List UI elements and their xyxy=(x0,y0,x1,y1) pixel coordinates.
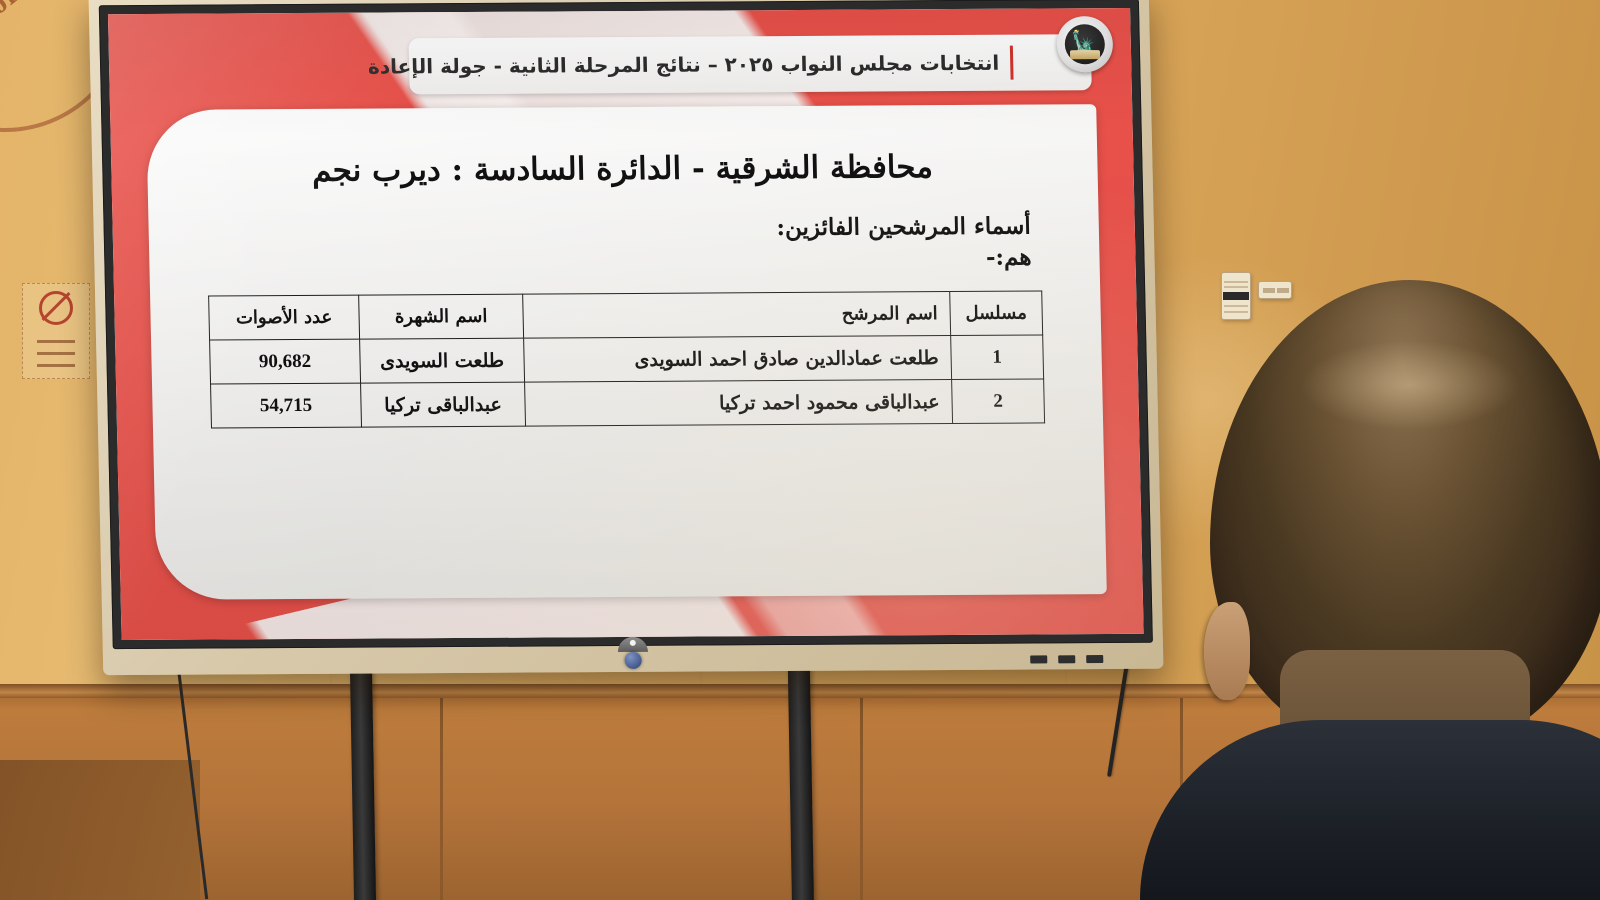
winners-subtitle-line2: هم:- xyxy=(203,242,1032,278)
cell-name: عبدالباقى محمود احمد تركيا xyxy=(525,380,953,427)
panel-home-button-icon[interactable] xyxy=(624,652,641,669)
results-table: مسلسل اسم المرشح اسم الشهرة عدد الأصوات … xyxy=(208,291,1045,429)
page-title: محافظة الشرقية - الدائرة السادسة : ديرب … xyxy=(201,144,1044,193)
cell-votes: 90,682 xyxy=(210,339,361,384)
cell-seq: 1 xyxy=(951,335,1044,380)
cell-name: طلعت عمادالدين صادق احمد السويدى xyxy=(524,336,952,383)
emblem-inner-disc: 🗽 xyxy=(1064,24,1105,64)
table-row: 2 عبدالباقى محمود احمد تركيا عبدالباقى ت… xyxy=(211,379,1045,428)
sign-text-line xyxy=(37,364,75,367)
wainscot-seam xyxy=(860,698,863,900)
table-header-row: مسلسل اسم المرشح اسم الشهرة عدد الأصوات xyxy=(209,291,1043,340)
viewer-head-silhouette-icon xyxy=(1170,160,1600,900)
room-scene: thority xyxy=(0,0,1600,900)
winners-subtitle: أسماء المرشحين الفائزين: هم:- xyxy=(202,210,1045,277)
header-accent-rule xyxy=(1010,46,1014,80)
column-header-name: اسم المرشح xyxy=(523,292,951,339)
cell-alias: طلعت السويدى xyxy=(360,338,525,383)
column-header-seq: مسلسل xyxy=(950,291,1043,336)
display-screen[interactable]: انتخابات مجلس النواب ٢٠٢٥ – نتائج المرحل… xyxy=(108,8,1144,640)
panel-speaker-slots-icon xyxy=(1030,655,1103,663)
results-table-body: 1 طلعت عمادالدين صادق احمد السويدى طلعت … xyxy=(210,335,1045,428)
table-row: 1 طلعت عمادالدين صادق احمد السويدى طلعت … xyxy=(210,335,1044,384)
sign-text-line xyxy=(37,352,75,355)
viewer-ear xyxy=(1204,602,1250,700)
eagle-glyph: 🗽 xyxy=(1071,33,1099,55)
interactive-display[interactable]: انتخابات مجلس النواب ٢٠٢٥ – نتائج المرحل… xyxy=(89,0,1164,675)
display-stand-leg-left xyxy=(350,660,376,900)
slide-content-card: محافظة الشرقية - الدائرة السادسة : ديرب … xyxy=(146,104,1107,600)
cell-alias: عبدالباقى تركيا xyxy=(361,382,526,427)
results-table-head: مسلسل اسم المرشح اسم الشهرة عدد الأصوات xyxy=(209,291,1043,340)
display-stand-leg-right xyxy=(788,666,814,900)
cell-seq: 2 xyxy=(952,379,1045,424)
column-header-votes: عدد الأصوات xyxy=(209,295,360,340)
slide-header-banner: انتخابات مجلس النواب ٢٠٢٥ – نتائج المرحل… xyxy=(409,34,1092,94)
display-bezel: انتخابات مجلس النواب ٢٠٢٥ – نتائج المرحل… xyxy=(99,0,1153,649)
slide-header-text: انتخابات مجلس النواب ٢٠٢٥ – نتائج المرحل… xyxy=(368,51,1000,79)
column-header-alias: اسم الشهرة xyxy=(359,294,524,339)
cell-votes: 54,715 xyxy=(211,383,362,428)
winners-subtitle-line1: أسماء المرشحين الفائزين: xyxy=(776,213,1031,242)
presentation-slide: انتخابات مجلس النواب ٢٠٢٥ – نتائج المرحل… xyxy=(108,8,1144,640)
viewer-head-highlight xyxy=(1300,340,1520,430)
egypt-eagle-emblem-icon: 🗽 xyxy=(1056,16,1113,72)
no-smoking-sign-icon xyxy=(22,283,90,379)
viewer-shoulders xyxy=(1140,720,1600,900)
sign-text-line xyxy=(37,340,75,343)
wainscot-shadow-left xyxy=(0,760,200,900)
results-table-wrapper: مسلسل اسم المرشح اسم الشهرة عدد الأصوات … xyxy=(204,291,1049,429)
wainscot-seam xyxy=(440,698,443,900)
